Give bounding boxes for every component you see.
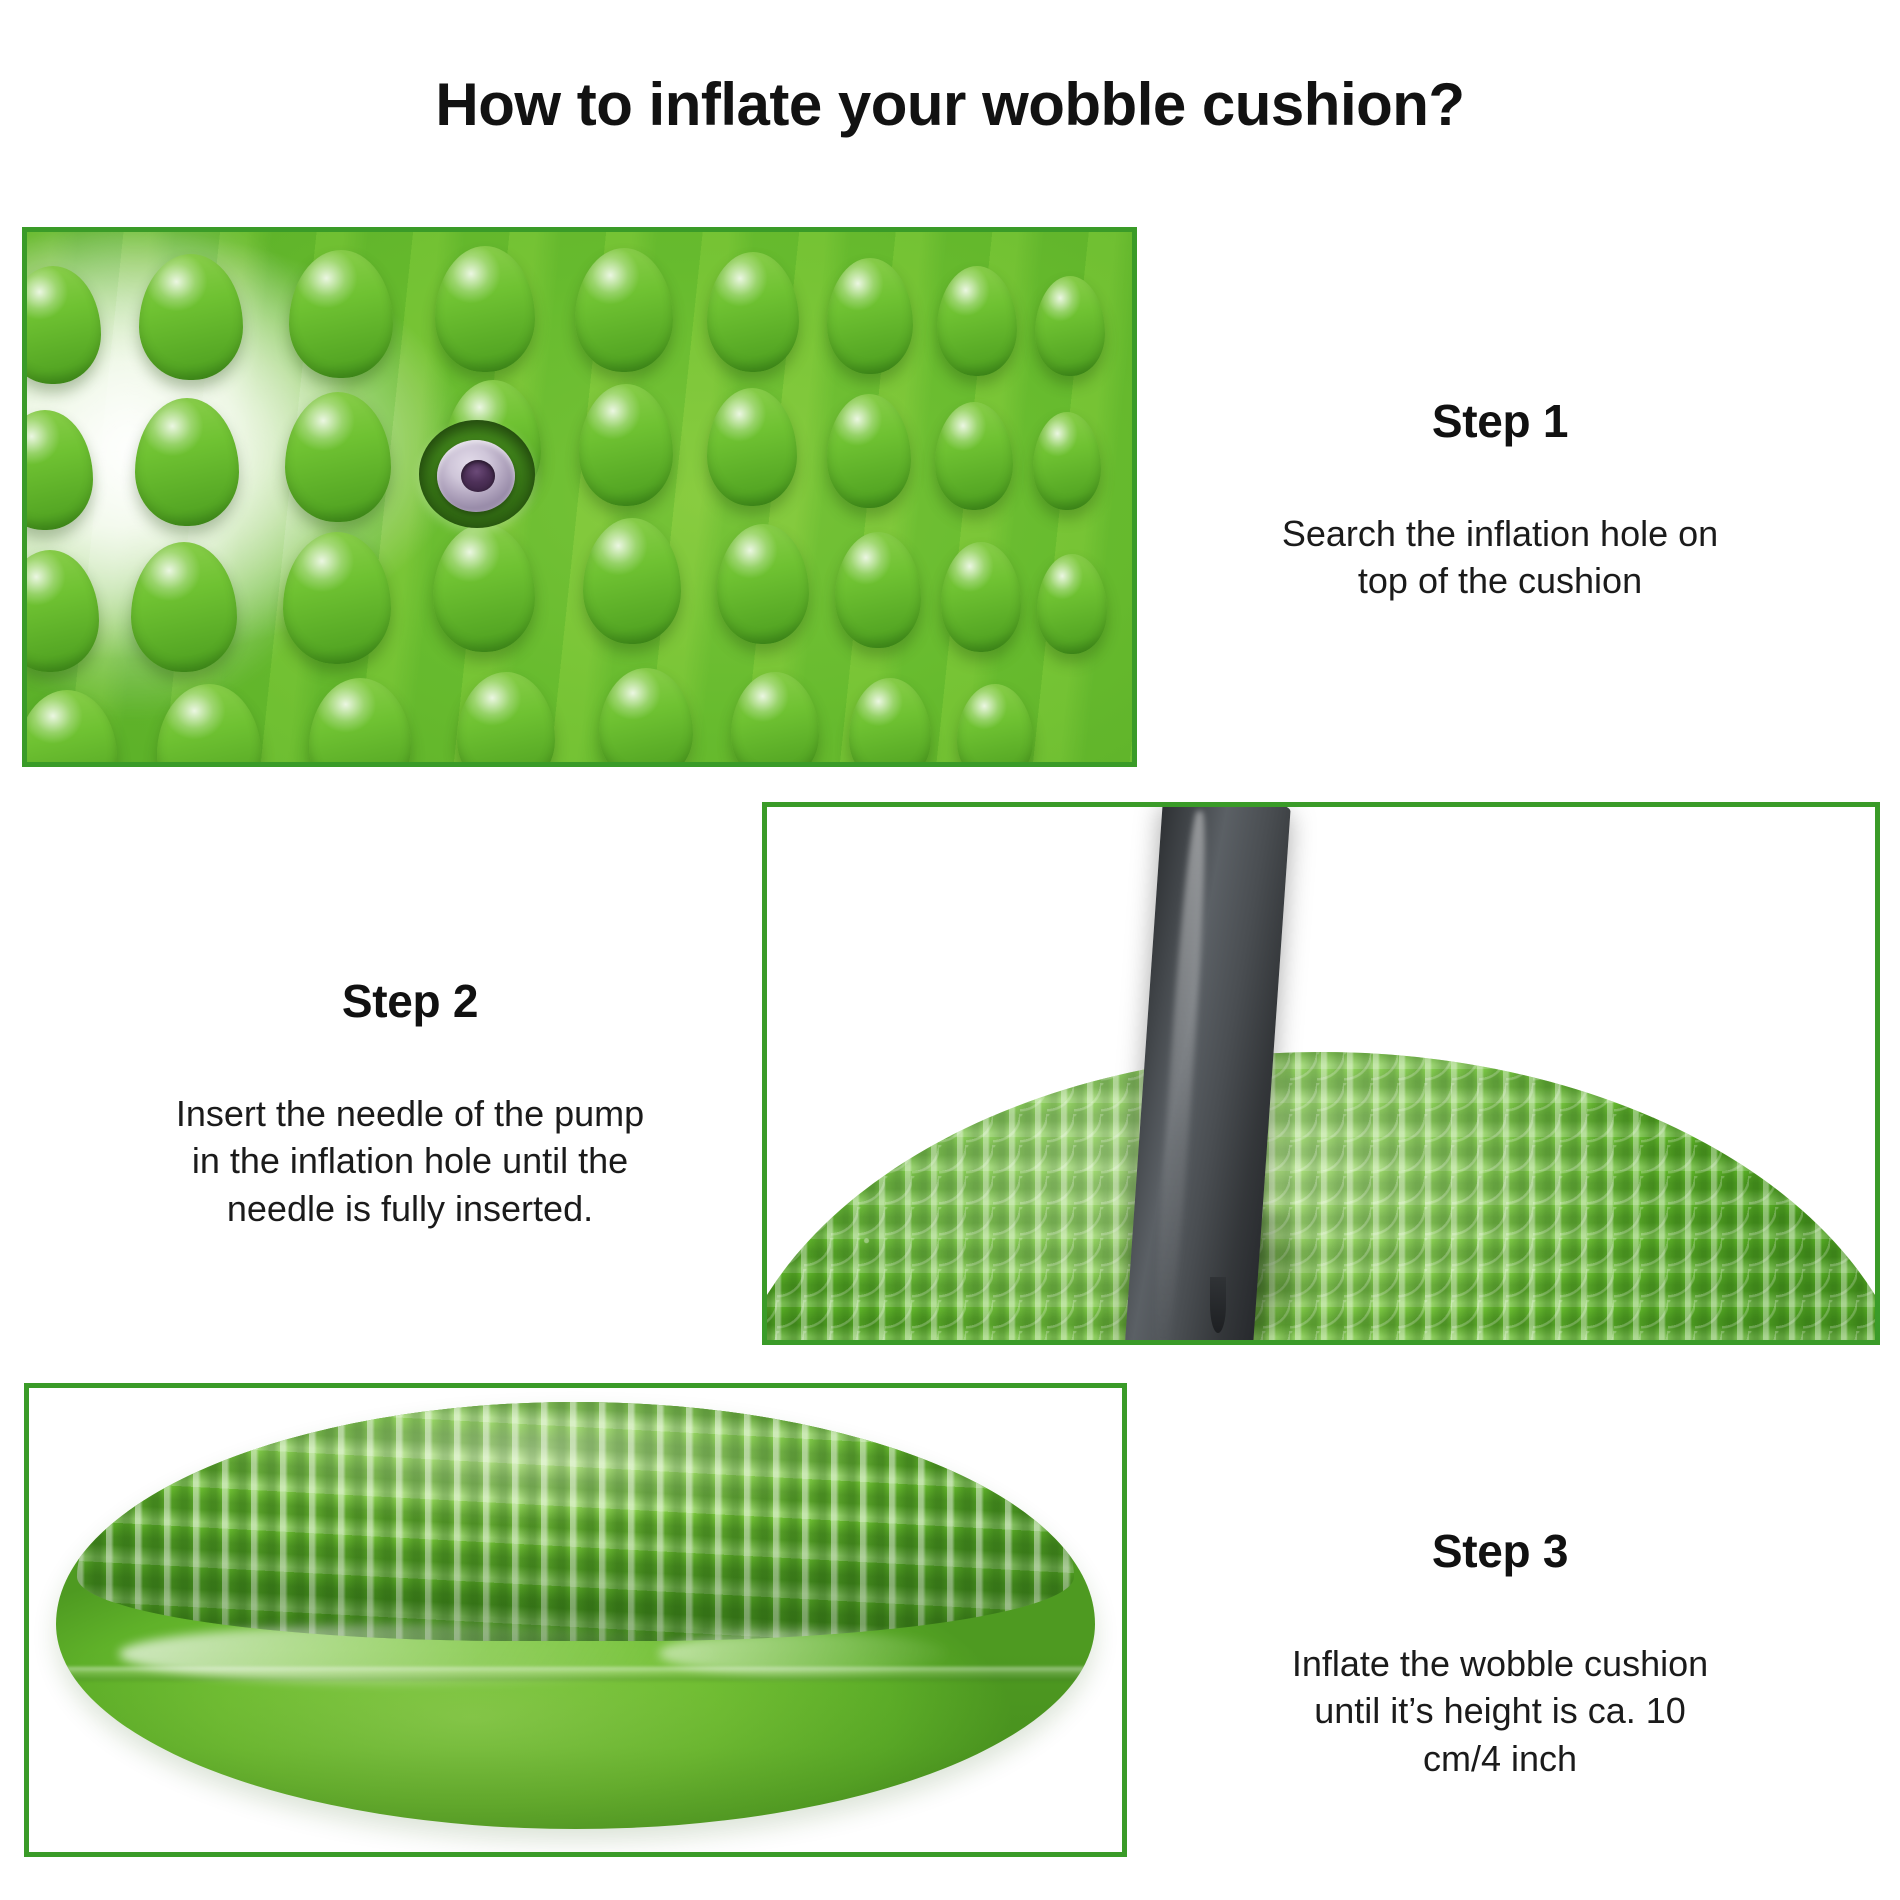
step-3-text-block: Step 3 Inflate the wobble cushion until … bbox=[1150, 1525, 1850, 1782]
step-2-heading: Step 2 bbox=[60, 975, 760, 1028]
pump-needle-tip bbox=[1210, 1277, 1226, 1333]
photo-inner-2 bbox=[767, 807, 1875, 1340]
step-2-body-line: in the inflation hole until the bbox=[60, 1137, 760, 1185]
step-2-photo-pump-needle bbox=[762, 802, 1880, 1345]
inflation-hole bbox=[419, 420, 535, 528]
page-title: How to inflate your wobble cushion? bbox=[0, 72, 1900, 138]
inflation-hole-opening bbox=[461, 460, 495, 492]
step-3-body-line: until it’s height is ca. 10 bbox=[1150, 1687, 1850, 1735]
step-1-photo-inflation-hole bbox=[22, 227, 1137, 767]
step-3-body-line: cm/4 inch bbox=[1150, 1735, 1850, 1783]
step-1-text-block: Step 1 Search the inflation hole on top … bbox=[1150, 395, 1850, 605]
cushion-base-shading bbox=[56, 1649, 1094, 1828]
step-3-body: Inflate the wobble cushion until it’s he… bbox=[1150, 1640, 1850, 1783]
step-3-photo-inflated-cushion bbox=[24, 1383, 1127, 1857]
step-2-body: Insert the needle of the pump in the inf… bbox=[60, 1090, 760, 1233]
step-1-body-line: Search the inflation hole on bbox=[1150, 510, 1850, 558]
cushion-spike-top bbox=[77, 1402, 1074, 1641]
step-2-body-line: needle is fully inserted. bbox=[60, 1185, 760, 1233]
step-1-heading: Step 1 bbox=[1150, 395, 1850, 448]
step-2-body-line: Insert the needle of the pump bbox=[60, 1090, 760, 1138]
step-2-text-block: Step 2 Insert the needle of the pump in … bbox=[60, 975, 760, 1232]
step-1-body: Search the inflation hole on top of the … bbox=[1150, 510, 1850, 605]
infographic-page: How to inflate your wobble cushion? bbox=[0, 0, 1900, 1900]
step-3-body-line: Inflate the wobble cushion bbox=[1150, 1640, 1850, 1688]
step-3-heading: Step 3 bbox=[1150, 1525, 1850, 1578]
photo-inner-3 bbox=[29, 1388, 1122, 1852]
step-1-body-line: top of the cushion bbox=[1150, 557, 1850, 605]
inflated-cushion bbox=[56, 1402, 1094, 1829]
cushion-spikes-shading bbox=[77, 1402, 1074, 1641]
inflation-hole-valve-ring bbox=[437, 440, 515, 512]
pump-tube-highlight bbox=[1149, 810, 1211, 1340]
photo-inner-1 bbox=[27, 232, 1132, 762]
